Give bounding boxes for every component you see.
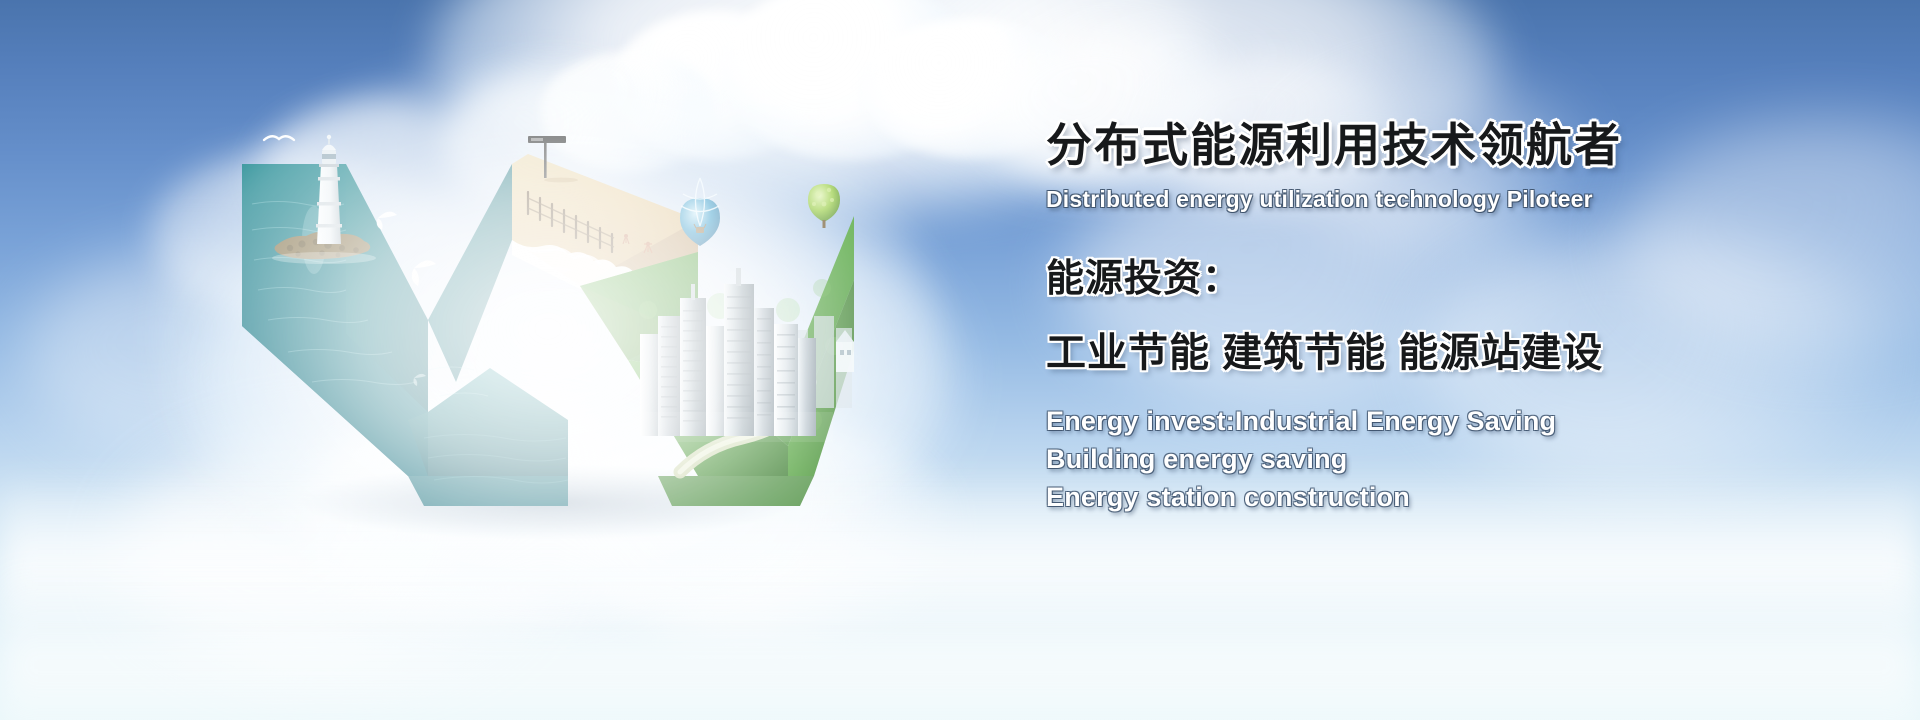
- banner-headline-cn: 分布式能源利用技术领航者: [1046, 120, 1886, 172]
- hero-banner: 分布式能源利用技术领航者 Distributed energy utilizat…: [0, 0, 1920, 720]
- banner-headline-en: Distributed energy utilization technolog…: [1046, 186, 1886, 213]
- banner-service-en-3: Energy station construction: [1046, 478, 1886, 516]
- horizon-haze: [0, 560, 1920, 720]
- banner-copy: 分布式能源利用技术领航者 Distributed energy utilizat…: [1046, 120, 1886, 517]
- banner-service-en-2: Building energy saving: [1046, 440, 1886, 478]
- w-landscape-artwork: [228, 120, 868, 540]
- banner-services-cn: 工业节能 建筑节能 能源站建设: [1046, 320, 1886, 378]
- banner-service-en-1: Energy invest:Industrial Energy Saving: [1046, 402, 1886, 440]
- artwork-glow: [158, 60, 938, 620]
- banner-section-label-cn: 能源投资：: [1046, 247, 1886, 302]
